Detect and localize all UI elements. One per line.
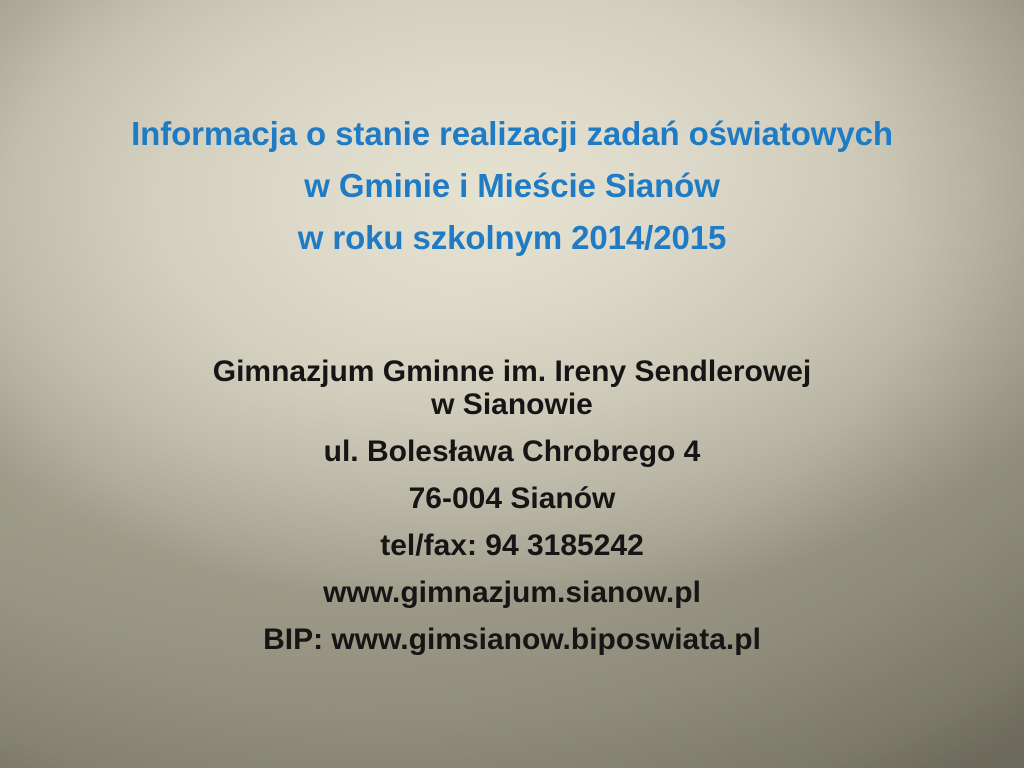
slide-body: Gimnazjum Gminne im. Ireny Sendlerowej w… [0, 355, 1024, 656]
phone-fax-paragraph: tel/fax: 94 3185242 [0, 529, 1024, 562]
slide-content: Informacja o stanie realizacji zadań ośw… [0, 0, 1024, 768]
presentation-slide: Informacja o stanie realizacji zadań ośw… [0, 0, 1024, 768]
bip-website-paragraph: BIP: www.gimsianow.biposwiata.pl [0, 623, 1024, 656]
title-line-3: w roku szkolnym 2014/2015 [0, 212, 1024, 264]
website-paragraph: www.gimnazjum.sianow.pl [0, 576, 1024, 609]
title-line-2: w Gminie i Mieście Sianów [0, 160, 1024, 212]
school-name-line-1: Gimnazjum Gminne im. Ireny Sendlerowej [0, 355, 1024, 388]
postal-city-line: 76-004 Sianów [0, 482, 1024, 515]
slide-title: Informacja o stanie realizacji zadań ośw… [0, 108, 1024, 264]
postal-city-paragraph: 76-004 Sianów [0, 482, 1024, 515]
title-line-1: Informacja o stanie realizacji zadań ośw… [0, 108, 1024, 160]
phone-fax-line: tel/fax: 94 3185242 [0, 529, 1024, 562]
street-address-paragraph: ul. Bolesława Chrobrego 4 [0, 435, 1024, 468]
bip-website-line: BIP: www.gimsianow.biposwiata.pl [0, 623, 1024, 656]
school-name-line-2: w Sianowie [0, 388, 1024, 421]
website-line: www.gimnazjum.sianow.pl [0, 576, 1024, 609]
street-address-line: ul. Bolesława Chrobrego 4 [0, 435, 1024, 468]
school-name-paragraph: Gimnazjum Gminne im. Ireny Sendlerowej w… [0, 355, 1024, 421]
